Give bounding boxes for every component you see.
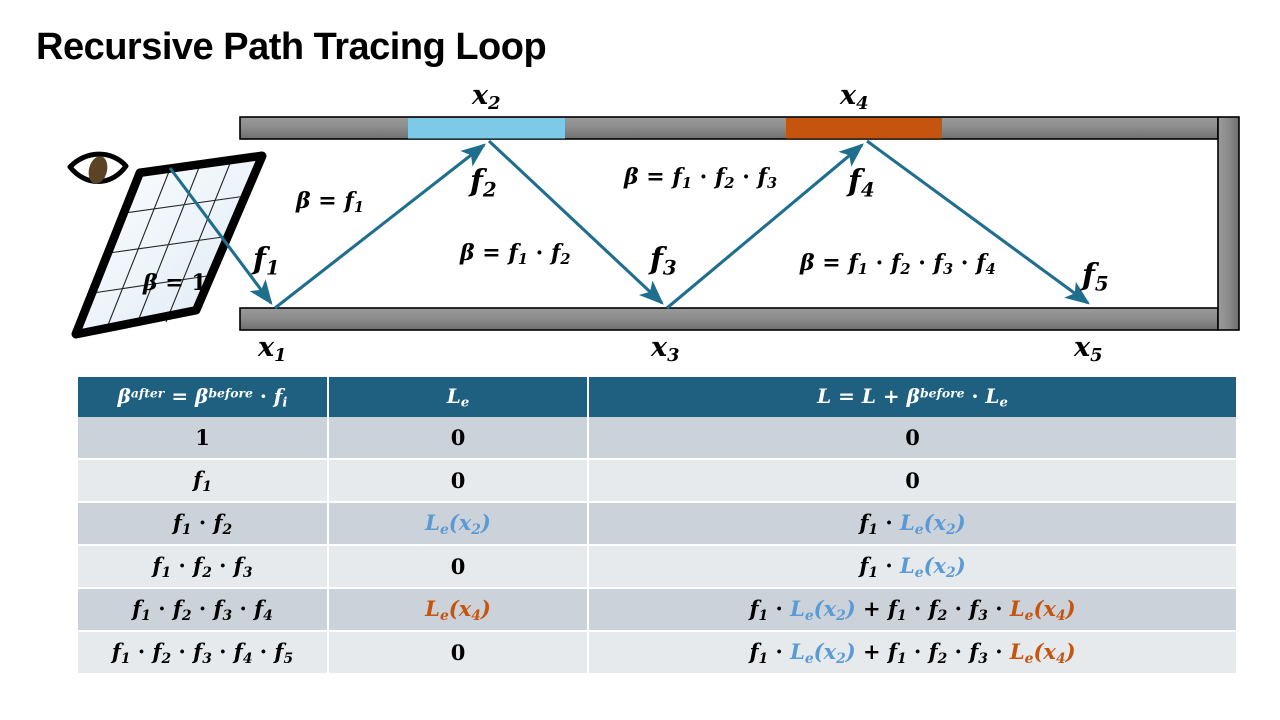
cell-radiance: f1 · Le(x2) + f1 · f2 · f3 · Le(x4) <box>588 588 1236 631</box>
path-tracing-table: βafter = βbefore · fi Le L = L + βbefore… <box>78 377 1236 675</box>
cell-le: 0 <box>328 545 588 588</box>
table-row: f1 · f2 · f3 · f4 Le(x4) f1 · Le(x2) + f… <box>78 588 1236 631</box>
vertex-label-x2: x2 <box>472 80 501 114</box>
vertex-label-x5: x5 <box>1074 332 1103 366</box>
table-header-row: βafter = βbefore · fi Le L = L + βbefore… <box>78 377 1236 417</box>
table-row: f1 · f2 · f3 0 f1 · Le(x2) <box>78 545 1236 588</box>
emissive-segment-x4 <box>786 118 942 139</box>
cell-le: 0 <box>328 631 588 674</box>
vertex-label-x3: x3 <box>651 332 680 366</box>
table-row: f1 0 0 <box>78 459 1236 502</box>
right-wall <box>1218 117 1239 330</box>
table-row: f1 · f2 · f3 · f4 · f5 0 f1 · Le(x2) + f… <box>78 631 1236 674</box>
throughput-label-2: β = f1 · f2 <box>460 240 571 268</box>
bsdf-label-f1: f1 <box>253 242 280 280</box>
eye-icon <box>70 154 126 186</box>
cell-le: Le(x4) <box>328 588 588 631</box>
cell-radiance: 0 <box>588 417 1236 459</box>
cell-le: 0 <box>328 417 588 459</box>
cell-beta: 1 <box>78 417 328 459</box>
cell-beta: f1 · f2 · f3 · f4 <box>78 588 328 631</box>
bsdf-label-f3: f3 <box>650 242 677 280</box>
path-tracing-diagram: x2 x4 x1 x3 x5 f1 f2 f3 f4 f5 β = 1 β = … <box>0 0 1280 370</box>
cell-beta: f1 · f2 · f3 · f4 · f5 <box>78 631 328 674</box>
cell-radiance: f1 · Le(x2) <box>588 502 1236 545</box>
cell-beta: f1 <box>78 459 328 502</box>
cell-radiance: f1 · Le(x2) <box>588 545 1236 588</box>
table-header-le: Le <box>328 377 588 417</box>
cell-le: 0 <box>328 459 588 502</box>
table-row: 1 0 0 <box>78 417 1236 459</box>
emissive-segment-x2 <box>408 118 565 139</box>
bsdf-label-f5: f5 <box>1082 258 1109 296</box>
vertex-label-x1: x1 <box>258 332 287 366</box>
table-header-beta: βafter = βbefore · fi <box>78 377 328 417</box>
throughput-label-3: β = f1 · f2 · f3 <box>624 164 777 192</box>
cell-radiance: 0 <box>588 459 1236 502</box>
bsdf-label-f4: f4 <box>848 164 875 202</box>
throughput-label-4: β = f1 · f2 · f3 · f4 <box>800 250 996 278</box>
cell-radiance: f1 · Le(x2) + f1 · f2 · f3 · Le(x4) <box>588 631 1236 674</box>
top-wall <box>240 117 1218 139</box>
bsdf-label-f2: f2 <box>470 164 497 202</box>
throughput-label-1: β = f1 <box>296 188 364 216</box>
cell-beta: f1 · f2 <box>78 502 328 545</box>
table-header-radiance: L = L + βbefore · Le <box>588 377 1236 417</box>
cell-le: Le(x2) <box>328 502 588 545</box>
table-row: f1 · f2 Le(x2) f1 · Le(x2) <box>78 502 1236 545</box>
cell-beta: f1 · f2 · f3 <box>78 545 328 588</box>
vertex-label-x4: x4 <box>840 80 869 114</box>
ray-x4-to-x5 <box>867 141 1088 303</box>
bottom-wall <box>240 308 1218 330</box>
throughput-label-0: β = 1 <box>143 270 207 296</box>
ray-x1-to-x2 <box>275 145 484 308</box>
